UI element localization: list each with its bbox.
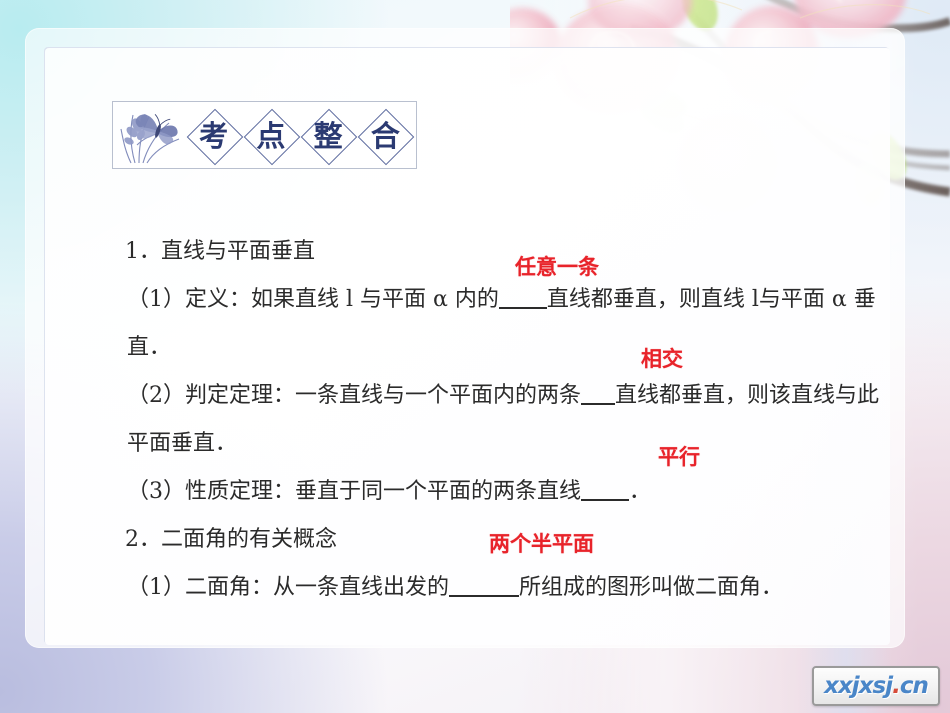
judgment-theorem-paragraph: （2）判定定理：一条直线与一个平面内的两条直线都垂直，则该直线与此平面垂直． — [105, 372, 895, 468]
annotation-two-half-planes: 两个半平面 — [489, 533, 594, 554]
banner-char-text-1: 考 — [199, 122, 228, 151]
definition-text-after-blank: 直线都垂直，则直线 l — [547, 287, 759, 312]
section-title-characters: 考 点 整 合 — [187, 102, 412, 170]
judgment-text-after-blank: 直线都垂直，则 — [615, 383, 769, 408]
dihedral-text-after-blank: 所组成的图形叫做二面角． — [519, 575, 783, 600]
heading-2-text: 2．二面角的有关概念 — [125, 527, 337, 552]
dihedral-text-before-blank: （1）二面角：从一条直线出发的 — [127, 575, 449, 600]
banner-char-text-2: 点 — [256, 122, 285, 151]
dihedral-angle-paragraph: （1）二面角：从一条直线出发的所组成的图形叫做二面角． — [105, 564, 895, 612]
definition-paragraph: （1）定义：如果直线 l 与平面 α 内的直线都垂直，则直线 l与平面 α 垂直… — [105, 276, 895, 372]
banner-diamond-char-2: 点 — [244, 109, 297, 164]
banner-diamond-char-4: 合 — [359, 109, 412, 164]
heading-1-text: 1．直线与平面垂直 — [125, 239, 315, 264]
definition-blank — [499, 307, 547, 309]
orchid-butterfly-icon — [117, 105, 183, 166]
banner-diamond-char-3: 整 — [302, 109, 355, 164]
watermark-suffix: cn — [900, 673, 928, 699]
judgment-blank — [581, 403, 615, 405]
banner-char-text-3: 整 — [314, 122, 343, 151]
property-text-after-blank: ． — [629, 479, 651, 504]
section-title-banner: 考 点 整 合 — [112, 101, 417, 169]
judgment-text-before-blank: （2）判定定理：一条直线与一个平面内的两条 — [127, 383, 581, 408]
property-blank — [581, 499, 629, 501]
dihedral-blank — [449, 595, 519, 597]
watermark-prefix: xxjxsj — [824, 673, 892, 699]
watermark-dot: . — [892, 673, 900, 699]
banner-char-text-4: 合 — [371, 122, 400, 151]
definition-text-before-blank: （1）定义：如果直线 l 与平面 α 内的 — [127, 287, 499, 312]
site-watermark-logo: xxjxsj.cn — [812, 666, 940, 706]
annotation-parallel: 平行 — [658, 446, 700, 467]
heading-line-1: 1．直线与平面垂直 — [105, 228, 895, 276]
banner-diamond-char-1: 考 — [187, 109, 240, 164]
property-text-before-blank: （3）性质定理：垂直于同一个平面的两条直线 — [127, 479, 581, 504]
watermark-text: xxjxsj.cn — [824, 675, 928, 698]
annotation-any-line: 任意一条 — [515, 256, 599, 277]
property-theorem-paragraph: （3）性质定理：垂直于同一个平面的两条直线． — [105, 468, 895, 516]
annotation-intersecting: 相交 — [641, 348, 683, 369]
